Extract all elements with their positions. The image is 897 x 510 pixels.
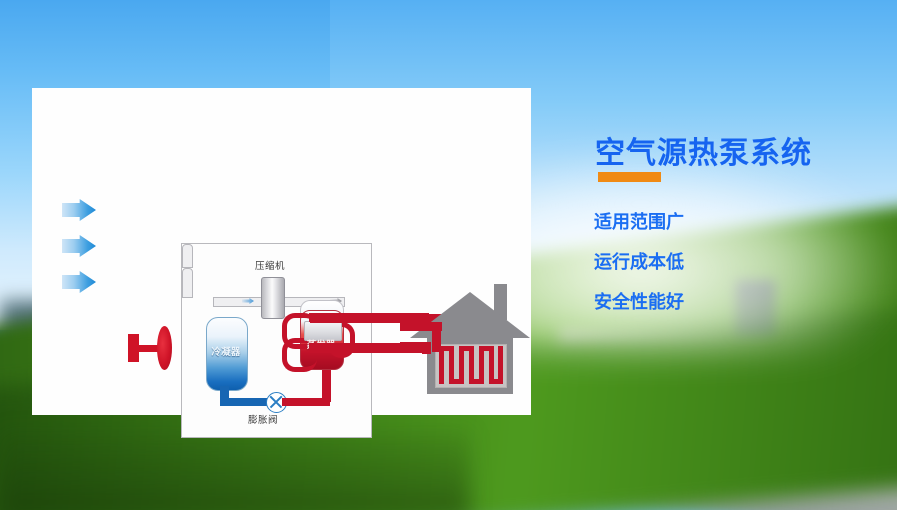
floor-coil-link <box>469 379 484 384</box>
slide-root: 压缩机 冷凝器 膨胀阀 蒸发器 <box>0 0 897 510</box>
liquid-line-bottom <box>220 398 270 406</box>
floor-coil-link <box>449 379 464 384</box>
floor-coil-link <box>439 346 454 351</box>
house-return-outlet <box>400 342 430 351</box>
background-shadow <box>0 430 470 510</box>
title-underline-rule <box>598 172 661 182</box>
discharge-pipe-right-riser <box>182 268 193 298</box>
house-illustration <box>410 284 530 394</box>
condenser-label: 冷凝器 <box>206 344 246 358</box>
bullet-item: 运行成本低 <box>594 248 684 274</box>
radiant-floor-coil <box>437 346 503 384</box>
floor-coil-link <box>459 346 474 351</box>
suction-pipe-left-riser <box>182 244 193 268</box>
bullet-item: 安全性能好 <box>594 288 684 314</box>
refrigeration-cycle-diagram: 压缩机 冷凝器 膨胀阀 蒸发器 <box>181 243 372 438</box>
fan-blade-icon <box>157 326 172 370</box>
floor-coil-link <box>479 346 494 351</box>
air-flow-arrow-icon <box>62 235 96 257</box>
bullet-item: 适用范围广 <box>594 208 684 234</box>
compressor-unit <box>261 277 285 319</box>
air-flow-arrow-icon <box>62 271 96 293</box>
fan-icon <box>128 326 176 370</box>
floor-coil-link <box>489 379 503 384</box>
illustration-panel: 压缩机 冷凝器 膨胀阀 蒸发器 <box>32 88 531 415</box>
compressor-label: 压缩机 <box>255 258 285 272</box>
page-title: 空气源热泵系统 <box>595 128 812 172</box>
expansion-valve-label: 膨胀阀 <box>248 412 278 426</box>
air-flow-arrow-icon <box>62 199 96 221</box>
floor-coil-leg <box>439 350 444 384</box>
